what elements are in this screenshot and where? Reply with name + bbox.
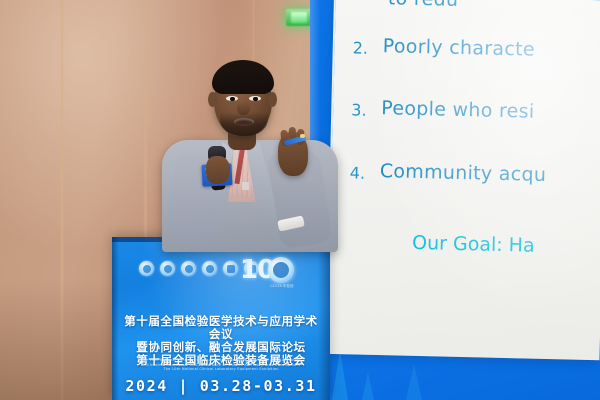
sponsor-emblem-icon bbox=[202, 261, 217, 276]
slide-goal-text: Our Goal: Ha bbox=[412, 232, 535, 257]
speaker-mouth bbox=[234, 118, 254, 126]
podium-banner: 10 CCLTA 中检协 第十届全国检验医学技术与应用学术会议 暨协同创新、融合… bbox=[112, 237, 330, 400]
speaker-pupil-right bbox=[253, 97, 258, 102]
speaker-person: 10 CCLTA bbox=[150, 58, 350, 248]
anniversary-seal-caption: CCLTA 中检协 bbox=[268, 284, 296, 293]
speaker-pupil-left bbox=[230, 97, 235, 102]
badge-clip bbox=[242, 182, 249, 190]
slide-bullet-text-2: Poorly characte bbox=[383, 35, 536, 61]
speaker-hair bbox=[212, 60, 274, 94]
exit-sign bbox=[286, 9, 312, 26]
anniversary-logo: 10 CCLTA 中检协 bbox=[240, 255, 312, 295]
sponsor-emblem-icon bbox=[160, 261, 175, 276]
podium-left-shadow bbox=[112, 237, 119, 400]
finger-ring bbox=[300, 134, 305, 138]
projection-screen: to redu 2. Poorly characte 3. People who… bbox=[328, 0, 600, 360]
sponsor-emblem-icon bbox=[181, 261, 196, 276]
speaker-ear-right bbox=[268, 92, 277, 107]
slide-top-partial-text: to redu bbox=[388, 0, 459, 11]
sponsor-emblem-icon bbox=[223, 261, 238, 276]
conference-title-en-line3: The 10th National Clinical Laboratory Eq… bbox=[126, 367, 316, 372]
speaker-hand-left bbox=[206, 156, 230, 184]
speaker-ear-left bbox=[208, 92, 217, 107]
slide-bullet-number-3: 3. bbox=[351, 100, 367, 119]
conference-date: 2024 | 03.28-03.31 bbox=[112, 377, 330, 395]
slide-bullet-text-4: Community acqu bbox=[380, 160, 547, 186]
slide-bullet-number-4: 4. bbox=[350, 163, 366, 182]
sponsor-emblem-icon bbox=[139, 261, 154, 276]
presentation-slide: to redu 2. Poorly characte 3. People who… bbox=[328, 0, 600, 360]
conference-title-en-line1: The 10th National Conference on Laborato… bbox=[126, 358, 316, 363]
speaker-eyebrow-left bbox=[224, 90, 239, 93]
slide-bullet-text-3: People who resi bbox=[381, 97, 535, 123]
conference-title-cn-line1: 第十届全国检验医学技术与应用学术会议 bbox=[122, 315, 320, 341]
slide-bullet-number-2: 2. bbox=[353, 38, 369, 57]
anniversary-seal-icon bbox=[268, 257, 294, 283]
speaker-eyebrow-right bbox=[247, 90, 262, 93]
conference-title-en: The 10th National Conference on Laborato… bbox=[126, 358, 316, 372]
conference-photo-scene: to redu 2. Poorly characte 3. People who… bbox=[0, 0, 600, 400]
